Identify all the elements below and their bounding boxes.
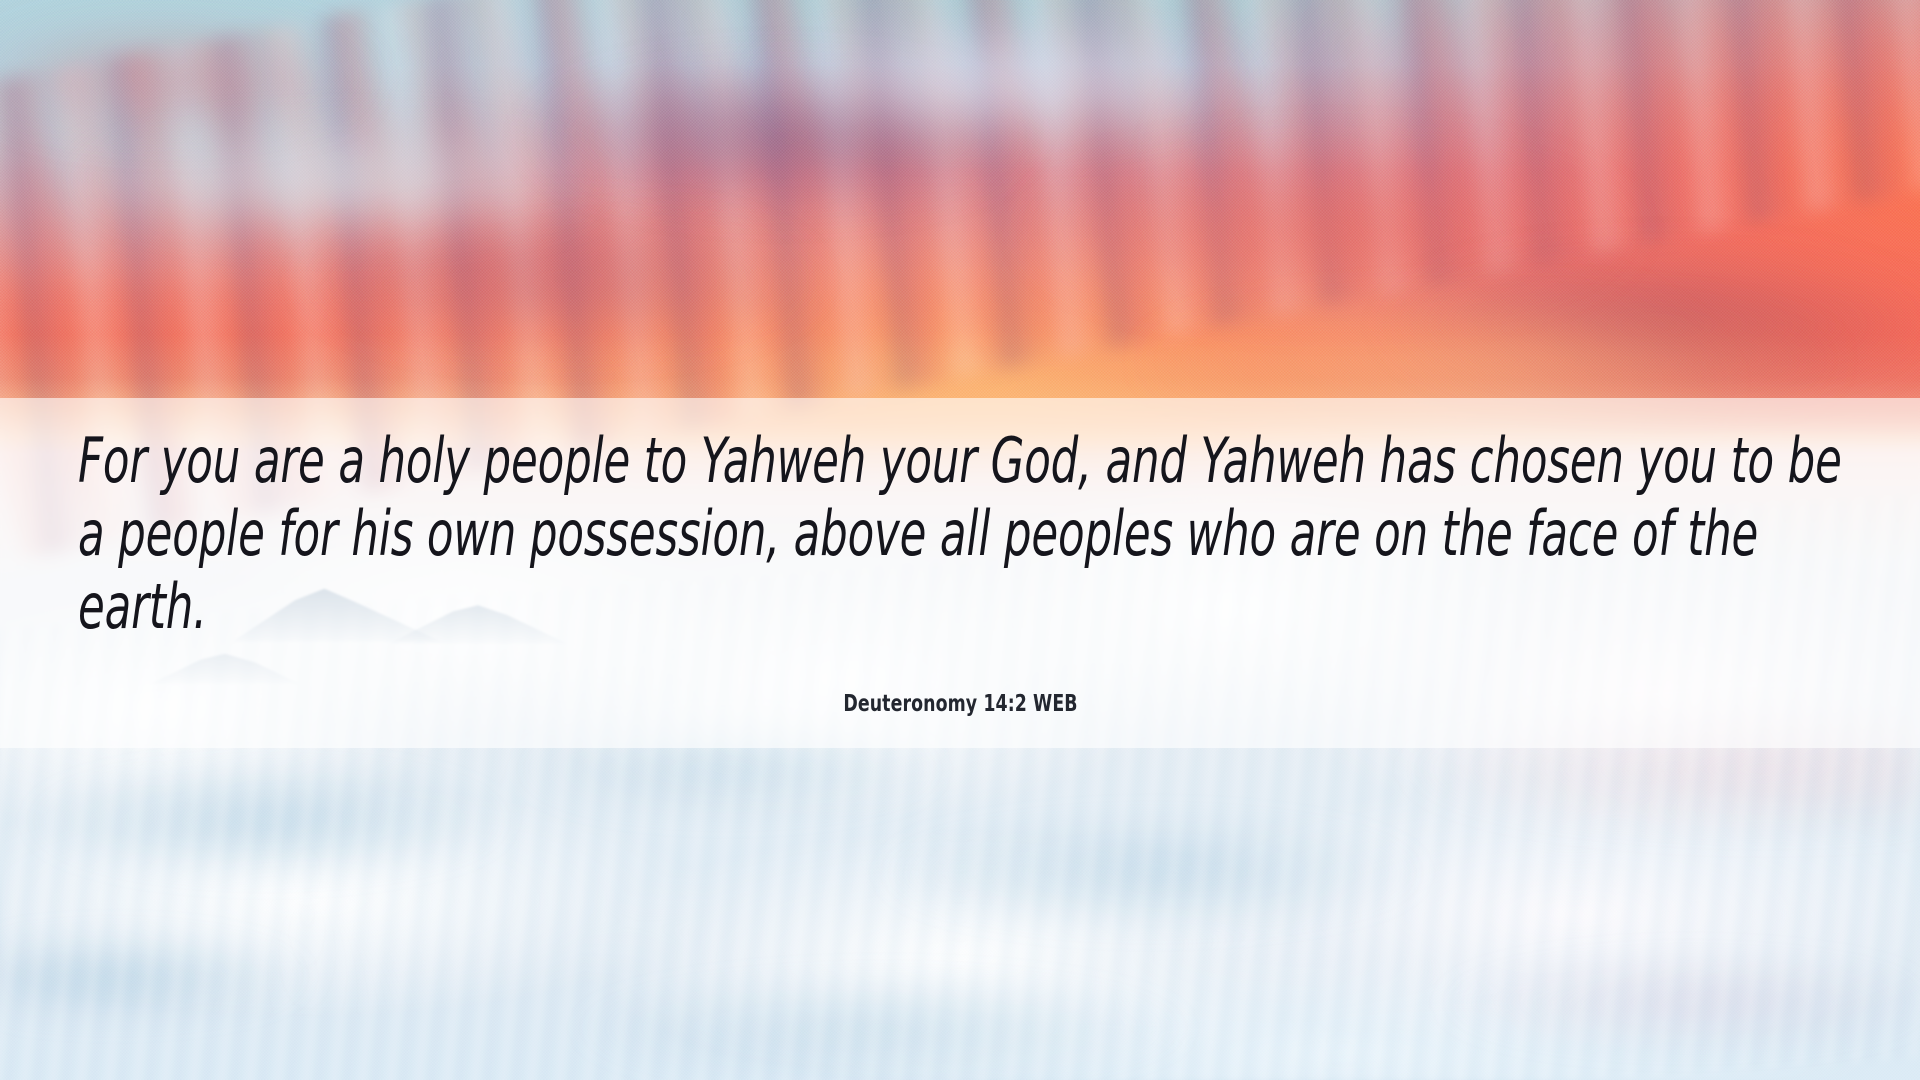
verse-reference-label: Deuteronomy 14:2 WEB	[843, 691, 1077, 717]
quote-overlay-band: For you are a holy people to Yahweh your…	[0, 398, 1920, 748]
verse-reference: Deuteronomy 14:2 WEB	[78, 691, 1842, 717]
verse-image-canvas: For you are a holy people to Yahweh your…	[0, 0, 1920, 1080]
verse-text: For you are a holy people to Yahweh your…	[78, 424, 1842, 643]
